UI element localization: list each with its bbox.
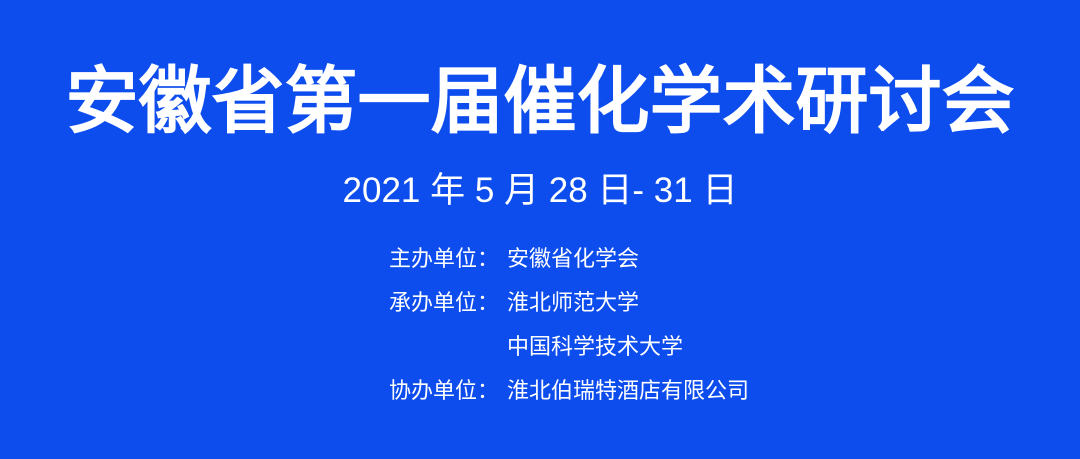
organizer-value: 中国科学技术大学: [507, 329, 683, 361]
organizer-row: 主办单位： 安徽省化学会: [389, 241, 949, 285]
organizer-label: 协办单位：: [389, 373, 507, 405]
organizer-value: 淮北师范大学: [507, 285, 639, 317]
organizer-value: 淮北伯瑞特酒店有限公司: [507, 373, 749, 405]
organizer-list: 主办单位： 安徽省化学会 承办单位： 淮北师范大学 中国科学技术大学 协办单位：…: [389, 241, 949, 417]
poster-title: 安徽省第一届催化学术研讨会: [0, 64, 1080, 141]
organizer-label: 主办单位：: [389, 241, 507, 273]
poster-date: 2021 年 5 月 28 日- 31 日: [0, 168, 1080, 214]
organizer-row: 中国科学技术大学: [389, 329, 949, 373]
organizer-label: 承办单位：: [389, 285, 507, 317]
conference-poster: 安徽省第一届催化学术研讨会 2021 年 5 月 28 日- 31 日 主办单位…: [0, 0, 1080, 459]
organizer-row: 协办单位： 淮北伯瑞特酒店有限公司: [389, 373, 949, 417]
organizer-row: 承办单位： 淮北师范大学: [389, 285, 949, 329]
organizer-value: 安徽省化学会: [507, 241, 639, 273]
